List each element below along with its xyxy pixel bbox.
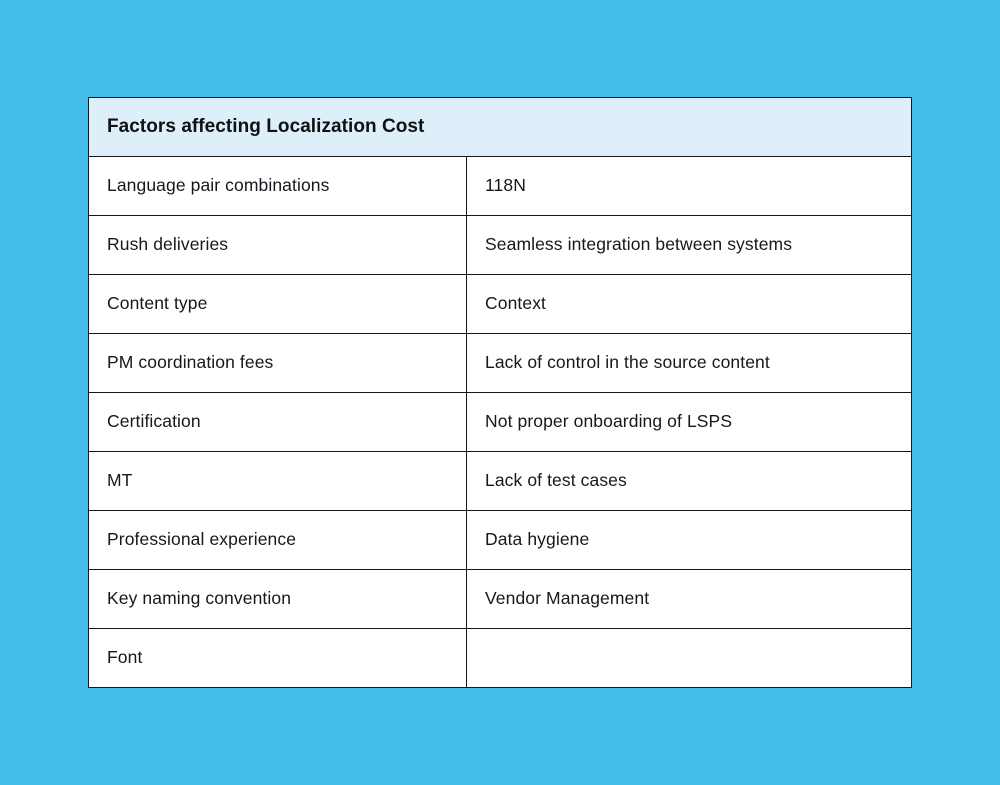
table-row: Professional experience Data hygiene	[89, 511, 912, 570]
table-row: Certification Not proper onboarding of L…	[89, 393, 912, 452]
table-header-row: Factors affecting Localization Cost	[89, 98, 912, 157]
factor-cell-right: Context	[467, 275, 912, 334]
factor-cell-left: Professional experience	[89, 511, 467, 570]
factor-cell-right: Data hygiene	[467, 511, 912, 570]
factor-cell-left: MT	[89, 452, 467, 511]
factor-cell-right: Seamless integration between systems	[467, 216, 912, 275]
factor-cell-left: Font	[89, 629, 467, 688]
factor-cell-left: Certification	[89, 393, 467, 452]
factor-cell-right: 118N	[467, 157, 912, 216]
table-row: Font	[89, 629, 912, 688]
factor-cell-right: Vendor Management	[467, 570, 912, 629]
table-row: Rush deliveries Seamless integration bet…	[89, 216, 912, 275]
factor-cell-right-empty	[467, 629, 912, 688]
table-header: Factors affecting Localization Cost	[89, 98, 912, 157]
table-row: Language pair combinations 118N	[89, 157, 912, 216]
page-canvas: Factors affecting Localization Cost Lang…	[0, 0, 1000, 785]
factor-cell-left: PM coordination fees	[89, 334, 467, 393]
factor-cell-left: Language pair combinations	[89, 157, 467, 216]
table-title: Factors affecting Localization Cost	[89, 98, 912, 157]
table-row: Key naming convention Vendor Management	[89, 570, 912, 629]
table-row: Content type Context	[89, 275, 912, 334]
table-row: PM coordination fees Lack of control in …	[89, 334, 912, 393]
table-row: MT Lack of test cases	[89, 452, 912, 511]
factor-cell-left: Key naming convention	[89, 570, 467, 629]
factor-cell-left: Rush deliveries	[89, 216, 467, 275]
factor-cell-right: Lack of test cases	[467, 452, 912, 511]
factor-cell-left: Content type	[89, 275, 467, 334]
factors-table-container: Factors affecting Localization Cost Lang…	[88, 97, 911, 688]
factors-affecting-localization-cost-table: Factors affecting Localization Cost Lang…	[88, 97, 912, 688]
table-body: Language pair combinations 118N Rush del…	[89, 157, 912, 688]
factor-cell-right: Not proper onboarding of LSPS	[467, 393, 912, 452]
factor-cell-right: Lack of control in the source content	[467, 334, 912, 393]
